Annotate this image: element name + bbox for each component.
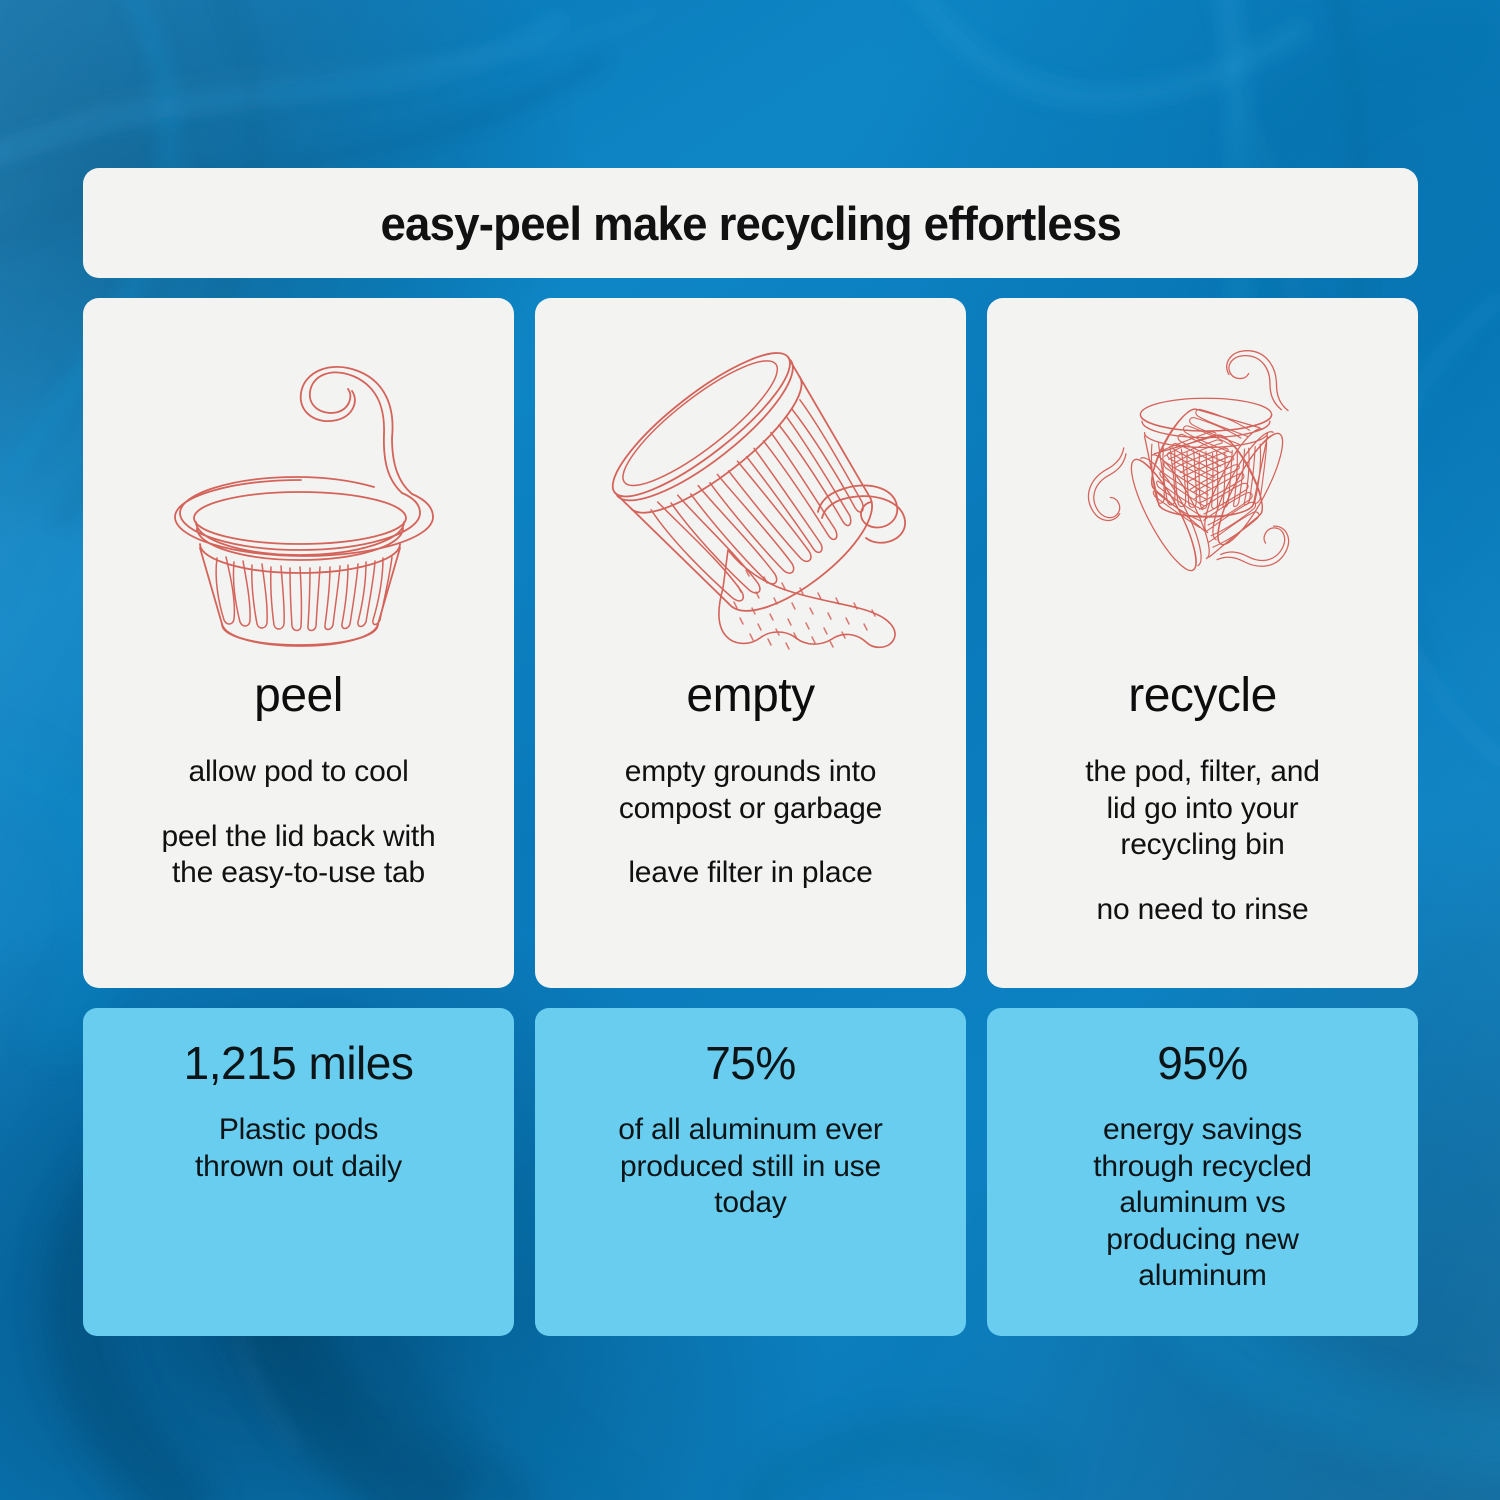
infographic-content: easy-peel make recycling effortless — [83, 168, 1418, 1336]
step-illustration-empty — [535, 298, 966, 668]
step-line: the pod, filter, and lid go into your re… — [1085, 754, 1320, 864]
stat-caption: energy savings through recycled aluminum… — [1075, 1112, 1330, 1295]
step-illustration-recycle — [987, 298, 1418, 668]
step-line: allow pod to cool — [188, 754, 408, 791]
three-coffee-pods-icon — [1028, 312, 1378, 662]
coffee-pod-emptying-grounds-icon — [578, 312, 923, 662]
step-text-block-peel: allow pod to cool peel the lid back with… — [137, 754, 459, 892]
step-line: no need to rinse — [1097, 892, 1309, 929]
coffee-pod-peeled-lid-icon — [134, 312, 464, 662]
stat-value: 1,215 miles — [184, 1040, 414, 1086]
page-title: easy-peel make recycling effortless — [380, 200, 1121, 247]
stat-card-energy-savings: 95% energy savings through recycled alum… — [987, 1008, 1418, 1336]
stat-caption: of all aluminum ever produced still in u… — [600, 1112, 900, 1222]
step-line: empty grounds into compost or garbage — [619, 754, 882, 827]
step-text-block-empty: empty grounds into compost or garbage le… — [595, 754, 906, 892]
step-text-block-recycle: the pod, filter, and lid go into your re… — [1061, 754, 1344, 928]
step-heading-empty: empty — [686, 672, 814, 720]
stat-value: 75% — [705, 1040, 796, 1086]
stat-caption: Plastic pods thrown out daily — [177, 1112, 420, 1185]
step-illustration-peel — [83, 298, 514, 668]
stats-row: 1,215 miles Plastic pods thrown out dail… — [83, 1008, 1418, 1336]
stat-card-aluminum-in-use: 75% of all aluminum ever produced still … — [535, 1008, 966, 1336]
step-card-peel: peel allow pod to cool peel the lid back… — [83, 298, 514, 988]
title-banner: easy-peel make recycling effortless — [83, 168, 1418, 278]
step-line: peel the lid back with the easy-to-use t… — [161, 819, 435, 892]
step-card-empty: empty empty grounds into compost or garb… — [535, 298, 966, 988]
infographic-canvas: easy-peel make recycling effortless — [0, 0, 1500, 1500]
steps-row: peel allow pod to cool peel the lid back… — [83, 298, 1418, 988]
step-heading-recycle: recycle — [1128, 672, 1277, 720]
stat-value: 95% — [1157, 1040, 1248, 1086]
stat-card-plastic-pods: 1,215 miles Plastic pods thrown out dail… — [83, 1008, 514, 1336]
step-heading-peel: peel — [254, 672, 343, 720]
step-card-recycle: recycle the pod, filter, and lid go into… — [987, 298, 1418, 988]
step-line: leave filter in place — [628, 855, 872, 892]
